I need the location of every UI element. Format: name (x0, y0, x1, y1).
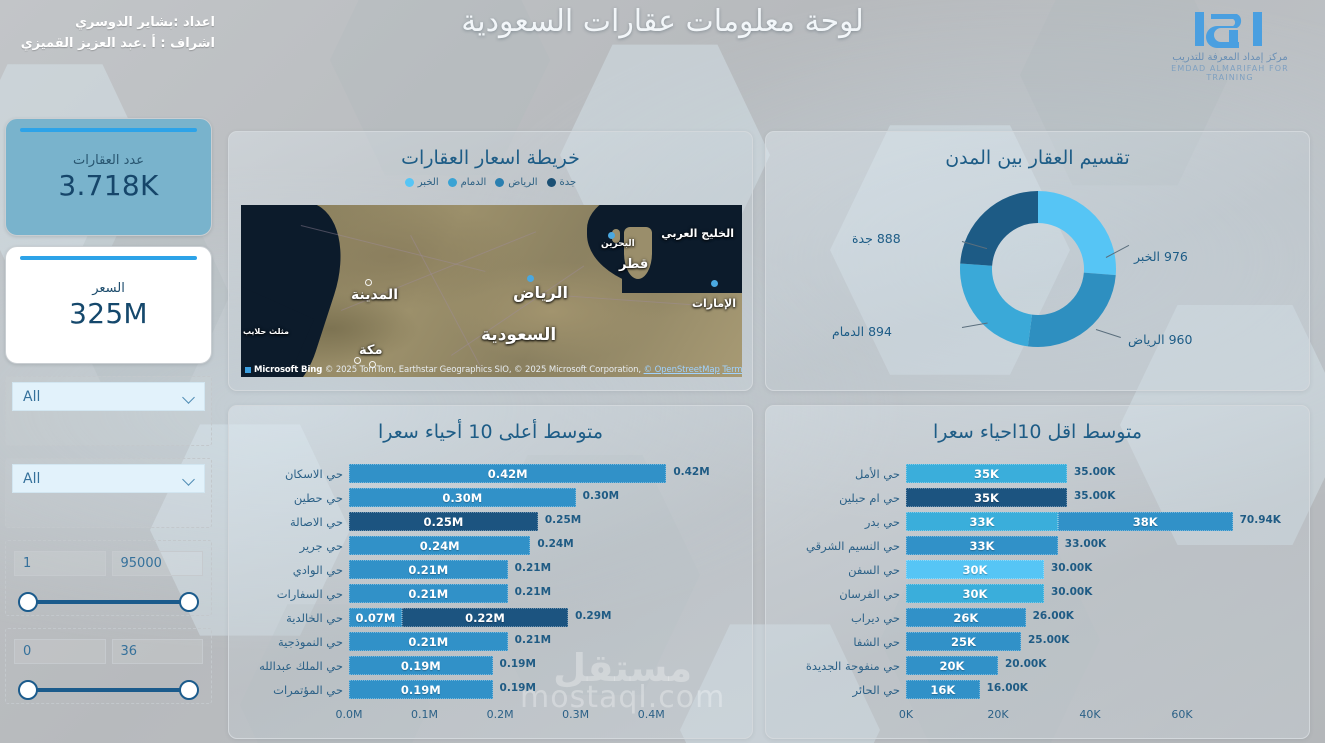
bar-category-label: حي الشفا (766, 635, 906, 649)
bar-total-label: 0.42M (673, 466, 709, 478)
slicer-district[interactable]: All (5, 458, 212, 528)
bar-segment[interactable]: 0.25M (349, 512, 538, 531)
bar-category-label: حي الاسكان (229, 467, 349, 481)
bar-segment[interactable]: 30K (906, 584, 1044, 603)
bar-segment[interactable]: 26K (906, 608, 1026, 627)
bar-category-label: حي حطين (229, 491, 349, 505)
bar-track: 30K30.00K (906, 560, 1309, 579)
bar-category-label: حي الملك عبدالله (229, 659, 349, 673)
bar-row[interactable]: حي حطين0.30M0.30M (229, 486, 752, 509)
bar-category-label: حي جرير (229, 539, 349, 553)
range-track-rooms[interactable] (18, 680, 199, 700)
top10-title: متوسط أعلى 10 أحياء سعرا (229, 406, 752, 443)
bar-row[interactable]: حي الخالدية0.07M0.22M0.29M (229, 606, 752, 629)
donut-slice-3[interactable] (960, 191, 1038, 266)
bar-segment[interactable]: 0.22M (402, 608, 568, 627)
donut-label-1: 960 الرياض (1128, 332, 1192, 347)
map-legend-swatch-icon (405, 178, 414, 187)
bar-track: 0.21M0.21M (349, 560, 752, 579)
map-marker-medina[interactable] (365, 279, 372, 286)
bar-category-label: حي المؤتمرات (229, 683, 349, 697)
map-label-riyadh: الرياض (513, 283, 568, 302)
bar-total-label: 20.00K (1005, 658, 1046, 670)
bar-row[interactable]: حي الحائر16K16.00K (766, 678, 1309, 701)
bar-total-label: 70.94K (1240, 514, 1281, 526)
donut-title: تقسيم العقار بين المدن (766, 132, 1309, 169)
bar-total-label: 33.00K (1065, 538, 1106, 550)
axis-tick-label: 0.0M (336, 708, 363, 721)
bar-row[interactable]: حي السفارات0.21M0.21M (229, 582, 752, 605)
bar-total-label: 0.19M (500, 682, 536, 694)
low10-x-axis: 0K20K40K60K (766, 708, 1309, 724)
bar-track: 0.21M0.21M (349, 584, 752, 603)
top10-bars: حي الاسكان0.42M0.42Mحي حطين0.30M0.30Mحي … (229, 462, 752, 702)
bar-category-label: حي الاصالة (229, 515, 349, 529)
kpi-value-property-count: 3.718K (58, 169, 158, 202)
map-marker-riyadh[interactable] (527, 275, 534, 282)
bar-segment[interactable]: 16K (906, 680, 980, 699)
map-legend-item-2[interactable]: الدمام (448, 177, 487, 188)
filters-rail: عدد العقارات 3.718K السعر 325M All All 1… (5, 118, 212, 704)
axis-tick-label: 0.3M (562, 708, 589, 721)
range-max-input-rooms[interactable]: 36 (112, 639, 204, 664)
bar-segment[interactable]: 0.42M (349, 464, 666, 483)
bar-category-label: حي منفوحة الجديدة (766, 659, 906, 673)
dropdown-city-value: All (23, 389, 40, 405)
bar-category-label: حي الحائر (766, 683, 906, 697)
bar-segment[interactable]: 25K (906, 632, 1021, 651)
bar-category-label: حي السفارات (229, 587, 349, 601)
bar-track: 35K35.00K (906, 464, 1309, 483)
map-legend: جدةالرياضالدمامالخبر (229, 177, 752, 188)
dashboard-header: اعداد :بشاير الدوسري اشراف : أ .عبد العز… (0, 0, 1325, 104)
bar-track: 0.19M0.19M (349, 656, 752, 675)
bar-track: 0.25M0.25M (349, 512, 752, 531)
bar-row[interactable]: حي النسيم الشرقي33K33.00K (766, 534, 1309, 557)
range-slicer-rooms[interactable]: 0 36 (5, 628, 212, 704)
bar-segment[interactable]: 0.30M (349, 488, 576, 507)
bar-total-label: 30.00K (1051, 562, 1092, 574)
donut-svg (766, 169, 1310, 369)
bar-track: 0.24M0.24M (349, 536, 752, 555)
map-panel[interactable]: خريطة اسعار العقارات جدةالرياضالدمامالخب… (228, 131, 753, 391)
map-label-saudi: السعودية (481, 325, 556, 345)
bar-track: 25K25.00K (906, 632, 1309, 651)
axis-tick-label: 40K (1079, 708, 1100, 721)
map-legend-item-1[interactable]: الرياض (495, 177, 537, 188)
bar-total-label: 0.19M (500, 658, 536, 670)
map-legend-item-3[interactable]: الخبر (405, 177, 439, 188)
map-label-bahrain: البحرين (601, 239, 635, 249)
range-handle-max-rooms[interactable] (179, 680, 199, 700)
city-distribution-donut[interactable]: 976 الخبر960 الرياض894 الدمام888 جدة (766, 169, 1309, 369)
bar-segment[interactable]: 35K (906, 488, 1067, 507)
bar-segment[interactable]: 20K (906, 656, 998, 675)
bar-row[interactable]: حي المؤتمرات0.19M0.19M (229, 678, 752, 701)
map-attribution: Microsoft Bing © 2025 TomTom, Earthstar … (241, 363, 742, 377)
dropdown-district[interactable]: All (12, 464, 205, 493)
map-label-medina: المدينة (351, 287, 398, 303)
organization-logo: مركز إمداد المعرفة للتدريب EMDAD ALMARIF… (1155, 8, 1305, 82)
bar-total-label: 0.29M (575, 610, 611, 622)
bar-category-label: حي النموذجية (229, 635, 349, 649)
bar-category-label: حي ديراب (766, 611, 906, 625)
bar-row[interactable]: حي بدر33K38K70.94K (766, 510, 1309, 533)
axis-tick-label: 60K (1171, 708, 1192, 721)
axis-tick-label: 0.2M (487, 708, 514, 721)
bar-track: 26K26.00K (906, 608, 1309, 627)
bar-total-label: 0.24M (537, 538, 573, 550)
bar-row[interactable]: حي الوادي0.21M0.21M (229, 558, 752, 581)
bar-segment[interactable]: 38K (1058, 512, 1233, 531)
map-legend-label: الدمام (461, 177, 487, 188)
donut-label-2: 894 الدمام (832, 324, 892, 339)
range-min-input-area[interactable]: 1 (14, 551, 106, 576)
isi-logo-icon (1193, 8, 1267, 50)
low10-title: متوسط اقل 10احياء سعرا (766, 406, 1309, 443)
map-attribution-text: © 2025 TomTom, Earthstar Geographics SIO… (325, 365, 641, 375)
microsoft-logo-icon (245, 367, 251, 373)
map-label-gulf: الخليج العربي (674, 227, 734, 240)
bar-segment[interactable]: 35K (906, 464, 1067, 483)
bar-total-label: 35.00K (1074, 490, 1115, 502)
bar-track: 33K38K70.94K (906, 512, 1309, 531)
map-legend-item-0[interactable]: جدة (547, 177, 577, 188)
kpi-label-property-count: عدد العقارات (73, 153, 144, 168)
axis-tick-label: 0.1M (411, 708, 438, 721)
city-distribution-panel: تقسيم العقار بين المدن 976 الخبر960 الري… (765, 131, 1310, 391)
map-label-halayeb: مثلث حلايب (255, 327, 289, 336)
bar-category-label: حي الأمل (766, 467, 906, 481)
range-handle-min-rooms[interactable] (18, 680, 38, 700)
range-handle-min-area[interactable] (18, 592, 38, 612)
bar-segment[interactable]: 0.19M (349, 656, 493, 675)
bar-row[interactable]: حي الأمل35K35.00K (766, 462, 1309, 485)
bar-segment[interactable]: 33K (906, 536, 1058, 555)
chevron-down-icon[interactable] (183, 393, 196, 401)
range-min-input-rooms[interactable]: 0 (14, 639, 106, 664)
map-label-qatar: قطر (619, 257, 648, 272)
bar-row[interactable]: حي جرير0.24M0.24M (229, 534, 752, 557)
bar-track: 35K35.00K (906, 488, 1309, 507)
kpi-card-property-count: عدد العقارات 3.718K (5, 118, 212, 236)
kpi-value-price: 325M (69, 297, 148, 330)
bar-total-label: 25.00K (1028, 634, 1069, 646)
bar-segment[interactable]: 0.21M (349, 560, 508, 579)
bar-category-label: حي ام حبلين (766, 491, 906, 505)
kpi-label-price: السعر (92, 281, 125, 296)
donut-slice-0[interactable] (1038, 191, 1116, 275)
bar-track: 0.07M0.22M0.29M (349, 608, 752, 627)
dropdown-district-value: All (23, 471, 40, 487)
range-max-input-area[interactable]: 95000 (112, 551, 204, 576)
property-price-map[interactable]: الخليج العربي البحرين قطر الإمارات الريا… (241, 205, 742, 377)
bar-total-label: 0.21M (515, 586, 551, 598)
bar-track: 33K33.00K (906, 536, 1309, 555)
top10-x-axis: 0.0M0.1M0.2M0.3M0.4M (229, 708, 752, 724)
map-label-uae: الإمارات (692, 297, 736, 310)
bar-row[interactable]: حي الشفا25K25.00K (766, 630, 1309, 653)
map-title: خريطة اسعار العقارات (229, 132, 752, 169)
low10-districts-panel: متوسط اقل 10احياء سعرا حي الأمل35K35.00K… (765, 405, 1310, 739)
bar-segment[interactable]: 0.21M (349, 584, 508, 603)
bar-total-label: 16.00K (987, 682, 1028, 694)
map-legend-label: جدة (560, 177, 577, 188)
donut-slice-2[interactable] (960, 264, 1032, 347)
logo-name-english: EMDAD ALMARIFAH FOR TRAINING (1155, 64, 1305, 82)
bar-total-label: 30.00K (1051, 586, 1092, 598)
bar-track: 0.19M0.19M (349, 680, 752, 699)
range-handle-max-area[interactable] (179, 592, 199, 612)
donut-label-0: 976 الخبر (1134, 249, 1188, 264)
chevron-down-icon[interactable] (183, 475, 196, 483)
bar-category-label: حي الوادي (229, 563, 349, 577)
bar-segment[interactable]: 30K (906, 560, 1044, 579)
bar-segment[interactable]: 0.21M (349, 632, 508, 651)
bar-total-label: 35.00K (1074, 466, 1115, 478)
bar-row[interactable]: حي السفن30K30.00K (766, 558, 1309, 581)
bar-category-label: حي الخالدية (229, 611, 349, 625)
map-legend-label: الخبر (418, 177, 439, 188)
bar-row[interactable]: حي الفرسان30K30.00K (766, 582, 1309, 605)
kpi-card-price: السعر 325M (5, 246, 212, 364)
bar-track: 16K16.00K (906, 680, 1309, 699)
page-title: لوحة معلومات عقارات السعودية (0, 4, 1325, 39)
bar-total-label: 26.00K (1033, 610, 1074, 622)
bar-segment[interactable]: 0.19M (349, 680, 493, 699)
map-legend-swatch-icon (495, 178, 504, 187)
map-marker-khobar[interactable] (711, 280, 718, 287)
bar-track: 0.42M0.42M (349, 464, 752, 483)
bar-total-label: 0.21M (515, 562, 551, 574)
range-slicer-area[interactable]: 1 95000 (5, 540, 212, 616)
bar-total-label: 0.30M (583, 490, 619, 502)
bar-track: 30K30.00K (906, 584, 1309, 603)
map-terms-link[interactable]: Terms (722, 365, 742, 375)
bar-total-label: 0.25M (545, 514, 581, 526)
map-legend-swatch-icon (448, 178, 457, 187)
slicer-city[interactable]: All (5, 376, 212, 446)
bar-row[interactable]: حي ام حبلين35K35.00K (766, 486, 1309, 509)
axis-tick-label: 20K (987, 708, 1008, 721)
bar-row[interactable]: حي ديراب26K26.00K (766, 606, 1309, 629)
bar-category-label: حي الفرسان (766, 587, 906, 601)
bar-category-label: حي السفن (766, 563, 906, 577)
low10-bars: حي الأمل35K35.00Kحي ام حبلين35K35.00Kحي … (766, 462, 1309, 702)
map-legend-label: الرياض (508, 177, 537, 188)
bar-row[interactable]: حي الاصالة0.25M0.25M (229, 510, 752, 533)
axis-tick-label: 0K (899, 708, 913, 721)
bar-track: 0.30M0.30M (349, 488, 752, 507)
bar-category-label: حي بدر (766, 515, 906, 529)
map-attribution-brand: Microsoft Bing (254, 365, 322, 375)
bar-row[interactable]: حي النموذجية0.21M0.21M (229, 630, 752, 653)
map-marker-bahrain[interactable] (608, 232, 615, 239)
bar-row[interactable]: حي الاسكان0.42M0.42M (229, 462, 752, 485)
bar-row[interactable]: حي الملك عبدالله0.19M0.19M (229, 654, 752, 677)
axis-tick-label: 0.4M (638, 708, 665, 721)
map-label-mecca: مكة (359, 343, 383, 358)
range-fill-rooms (32, 688, 185, 692)
bar-row[interactable]: حي منفوحة الجديدة20K20.00K (766, 654, 1309, 677)
donut-label-3: 888 جدة (852, 231, 901, 246)
bar-total-label: 0.21M (515, 634, 551, 646)
map-legend-swatch-icon (547, 178, 556, 187)
donut-slice-1[interactable] (1028, 273, 1116, 347)
bar-track: 20K20.00K (906, 656, 1309, 675)
bar-category-label: حي النسيم الشرقي (766, 539, 906, 553)
logo-name-arabic: مركز إمداد المعرفة للتدريب (1155, 52, 1305, 63)
bar-segment[interactable]: 0.07M (349, 608, 402, 627)
openstreetmap-link[interactable]: © OpenStreetMap (644, 365, 720, 375)
bar-track: 0.21M0.21M (349, 632, 752, 651)
dropdown-city[interactable]: All (12, 382, 205, 411)
range-track-area[interactable] (18, 592, 199, 612)
bar-segment[interactable]: 0.24M (349, 536, 530, 555)
top10-districts-panel: متوسط أعلى 10 أحياء سعرا حي الاسكان0.42M… (228, 405, 753, 739)
range-fill-area (32, 600, 185, 604)
bar-segment[interactable]: 33K (906, 512, 1058, 531)
